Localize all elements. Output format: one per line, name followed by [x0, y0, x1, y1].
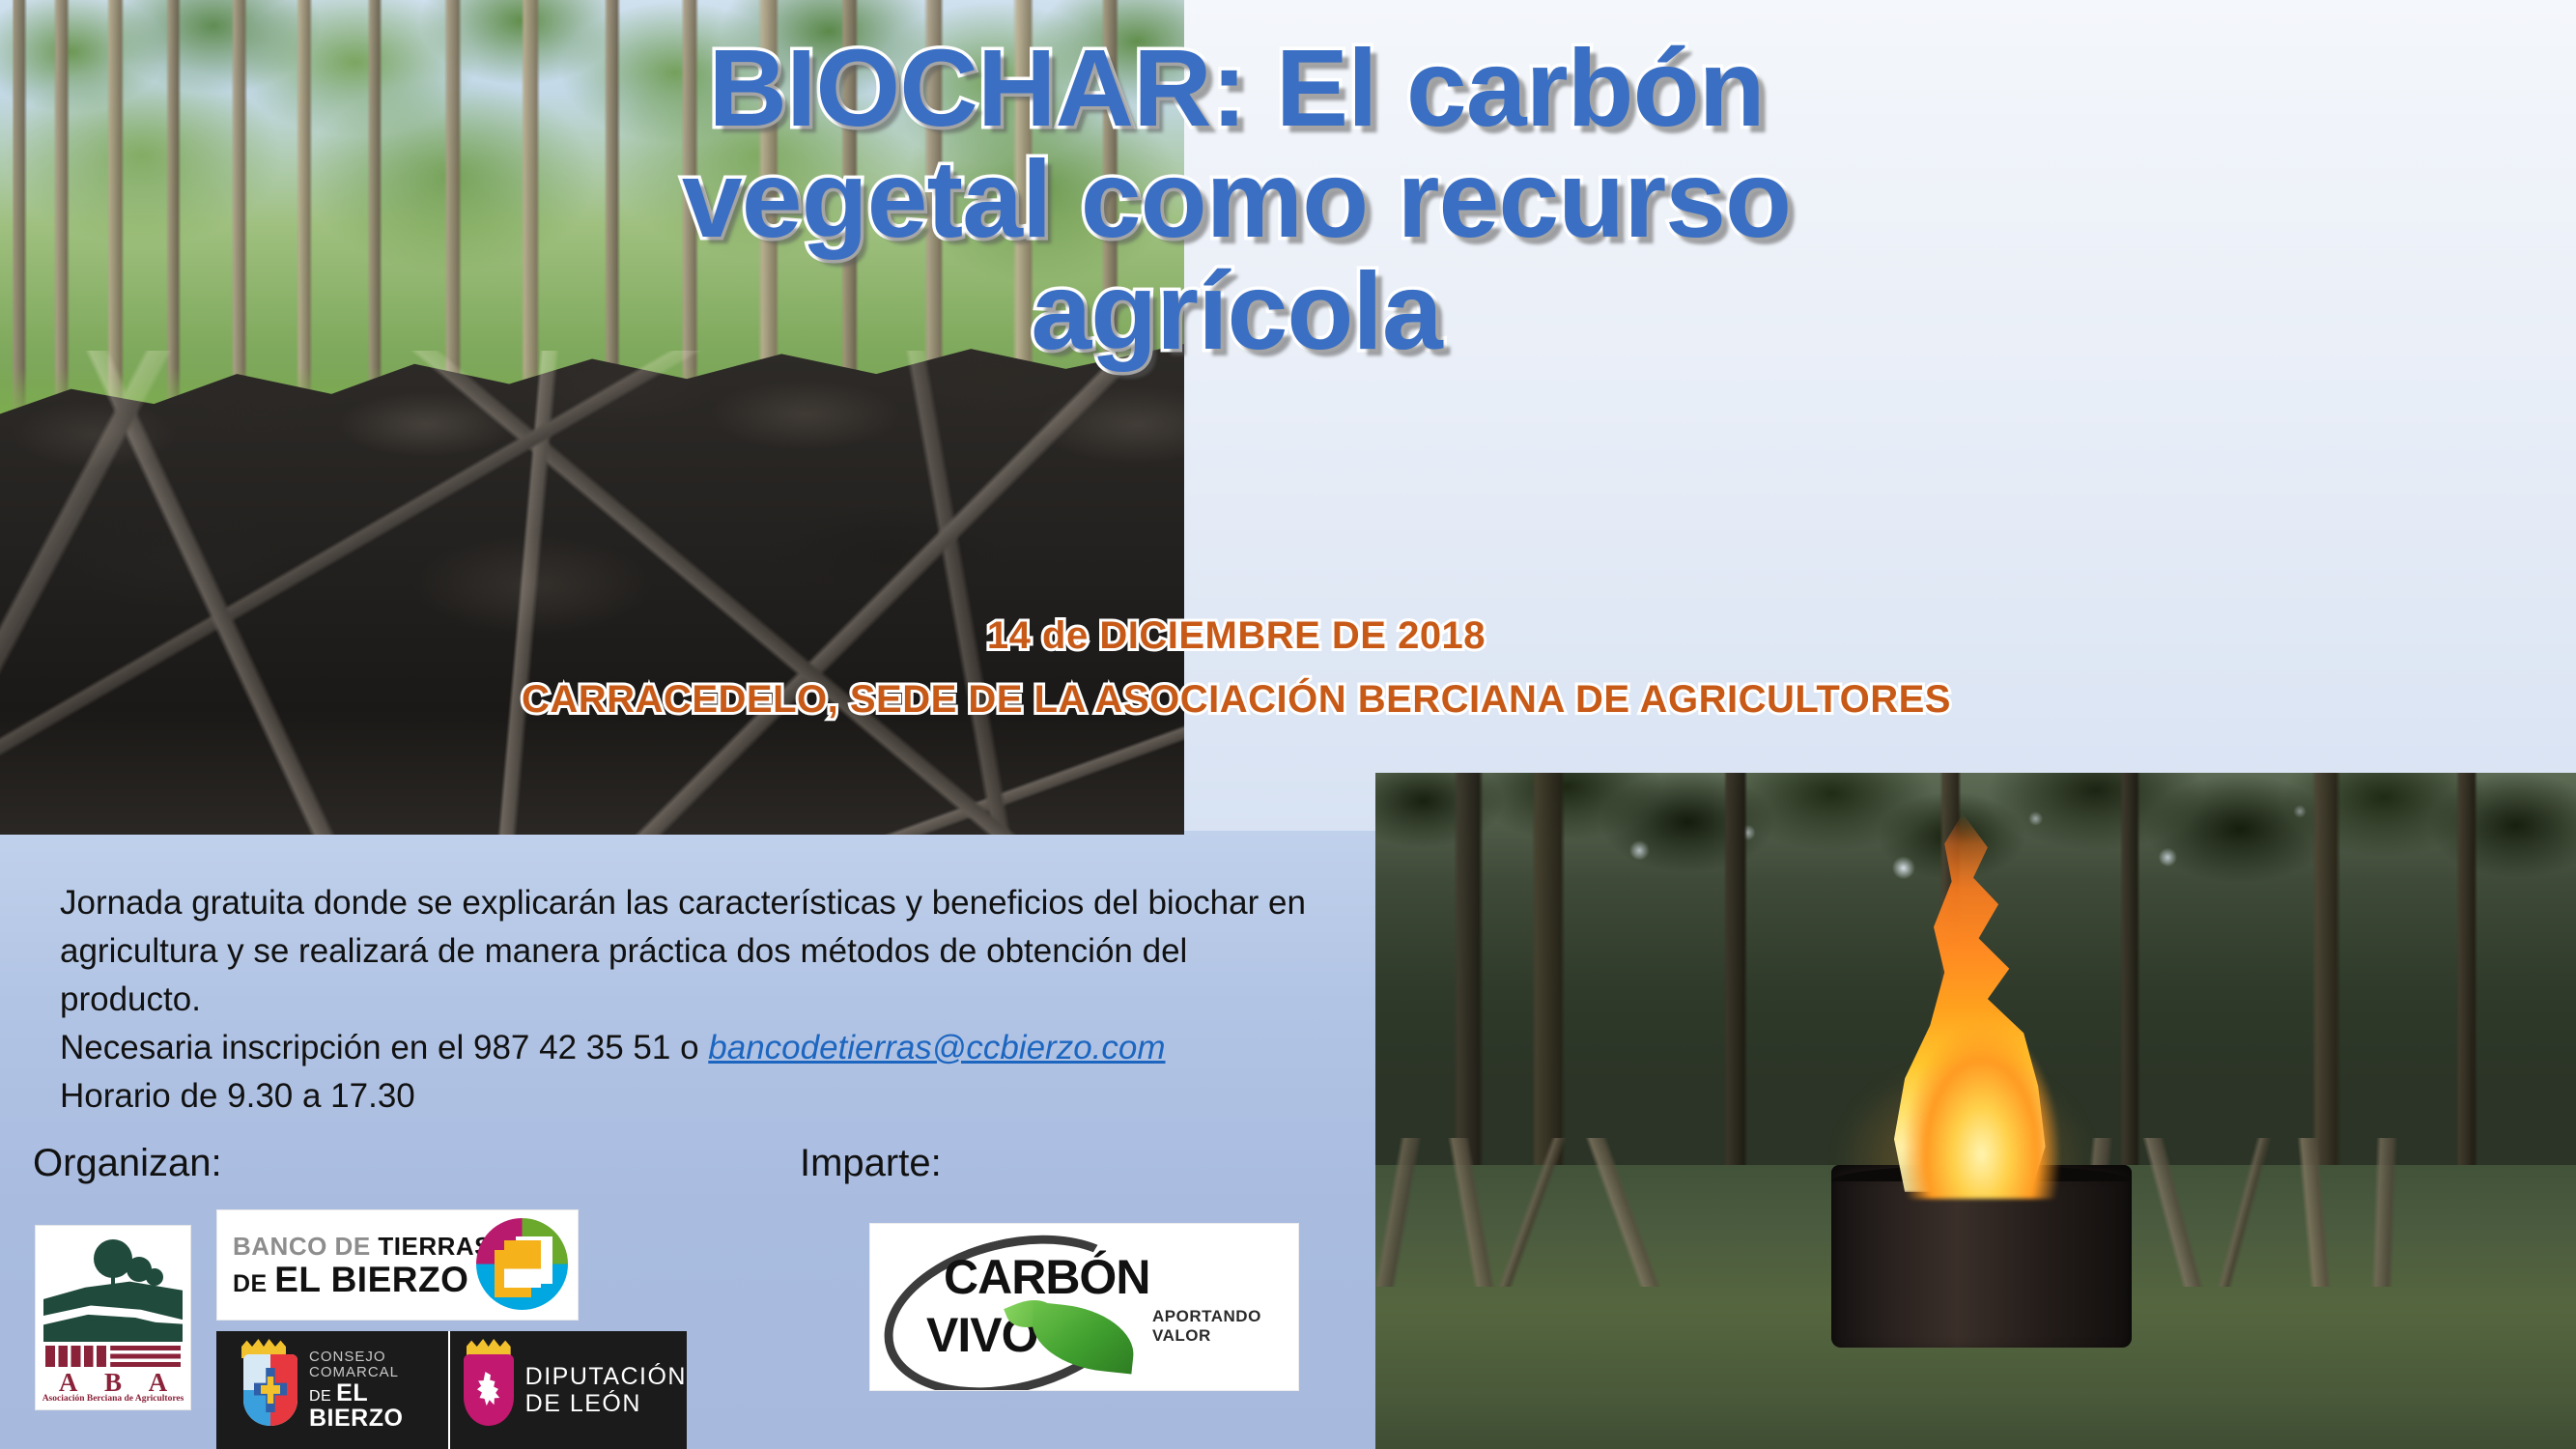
- banco-line-2: DE EL BIERZO: [233, 1262, 492, 1297]
- consejo-line-1: CONSEJO COMARCAL: [309, 1350, 448, 1380]
- carbon-vivo-logo: CARBÓN VIVO APORTANDO VALOR: [869, 1223, 1299, 1391]
- aba-landscape-icon: [43, 1234, 183, 1342]
- institutions-bar: CONSEJO COMARCAL DE EL BIERZO DIPUTACIÓN…: [216, 1331, 687, 1449]
- event-date: 14 de DICIEMBRE DE 2018: [270, 614, 2202, 658]
- diputacion-wordmark: DIPUTACIÓN DE LEÓN: [525, 1363, 687, 1417]
- registration-prefix: Necesaria inscripción en el 987 42 35 51…: [60, 1029, 708, 1066]
- poster-title: BIOCHAR: El carbón vegetal como recurso …: [270, 33, 2202, 367]
- consejo-wordmark: CONSEJO COMARCAL DE EL BIERZO: [309, 1350, 448, 1431]
- carbon-vivo-word-1: CARBÓN: [944, 1249, 1149, 1305]
- aba-tree-small-icon: [146, 1268, 163, 1286]
- aba-letter-1: A: [59, 1368, 78, 1398]
- carbon-vivo-tagline: APORTANDO VALOR: [1152, 1307, 1298, 1346]
- banco-de-tierras-logo: BANCO DE TIERRAS DE EL BIERZO: [216, 1209, 579, 1321]
- burning-barrel-photo: [1375, 773, 2576, 1449]
- banco-line2-big: EL BIERZO: [274, 1260, 468, 1299]
- consejo-line-2: DE EL BIERZO: [309, 1380, 448, 1432]
- presenter-label: Imparte:: [800, 1142, 942, 1185]
- banco-line2-small: DE: [233, 1270, 274, 1297]
- registration-line: Necesaria inscripción en el 987 42 35 51…: [60, 1024, 1316, 1072]
- aba-initials: A B A: [45, 1369, 181, 1396]
- description-paragraph: Jornada gratuita donde se explicarán las…: [60, 879, 1316, 1024]
- event-venue: CARRACEDELO, SEDE DE LA ASOCIACIÓN BERCI…: [270, 678, 2202, 722]
- consejo-shield-wrap: [230, 1354, 297, 1426]
- banco-line-1: BANCO DE TIERRAS: [233, 1234, 492, 1259]
- lion-icon: [470, 1369, 507, 1414]
- poster-root: BIOCHAR: El carbón vegetal como recurso …: [0, 0, 2576, 1449]
- organizers-label: Organizan:: [33, 1142, 222, 1185]
- banco-wordmark: BANCO DE TIERRAS DE EL BIERZO: [233, 1234, 492, 1297]
- leon-shield-icon: [464, 1354, 514, 1426]
- flame-core: [1904, 976, 2060, 1199]
- schedule-line: Horario de 9.30 a 17.30: [60, 1072, 1316, 1121]
- diputacion-leon-logo: DIPUTACIÓN DE LEÓN: [450, 1331, 687, 1449]
- aba-logo: A B A Asociación Berciana de Agricultore…: [35, 1225, 191, 1410]
- leon-shield-wrap: [464, 1354, 514, 1426]
- banco-line1-grey: BANCO DE: [233, 1232, 378, 1261]
- email-link[interactable]: bancodetierras@ccbierzo.com: [708, 1029, 1165, 1066]
- diputacion-line-1: DIPUTACIÓN: [525, 1363, 687, 1390]
- aba-letter-3: A: [149, 1368, 168, 1398]
- aba-subtitle: Asociación Berciana de Agricultores: [42, 1394, 184, 1404]
- aba-letter-2: B: [104, 1368, 122, 1398]
- consejo-line2-small: DE: [309, 1388, 336, 1405]
- banco-mosaic-icon: [476, 1218, 568, 1310]
- diputacion-line-2: DE LEÓN: [525, 1390, 687, 1417]
- banco-line1-black: TIERRAS: [378, 1232, 492, 1261]
- title-line-1: BIOCHAR: El carbón: [270, 33, 2202, 144]
- event-description: Jornada gratuita donde se explicarán las…: [60, 879, 1316, 1121]
- photo-charcoal-chunks-layer: [0, 351, 1184, 835]
- title-line-2: vegetal como recurso: [270, 144, 2202, 255]
- bierzo-shield-icon: [243, 1354, 297, 1426]
- consejo-comarcal-logo: CONSEJO COMARCAL DE EL BIERZO: [216, 1331, 448, 1449]
- title-line-3: agrícola: [270, 256, 2202, 367]
